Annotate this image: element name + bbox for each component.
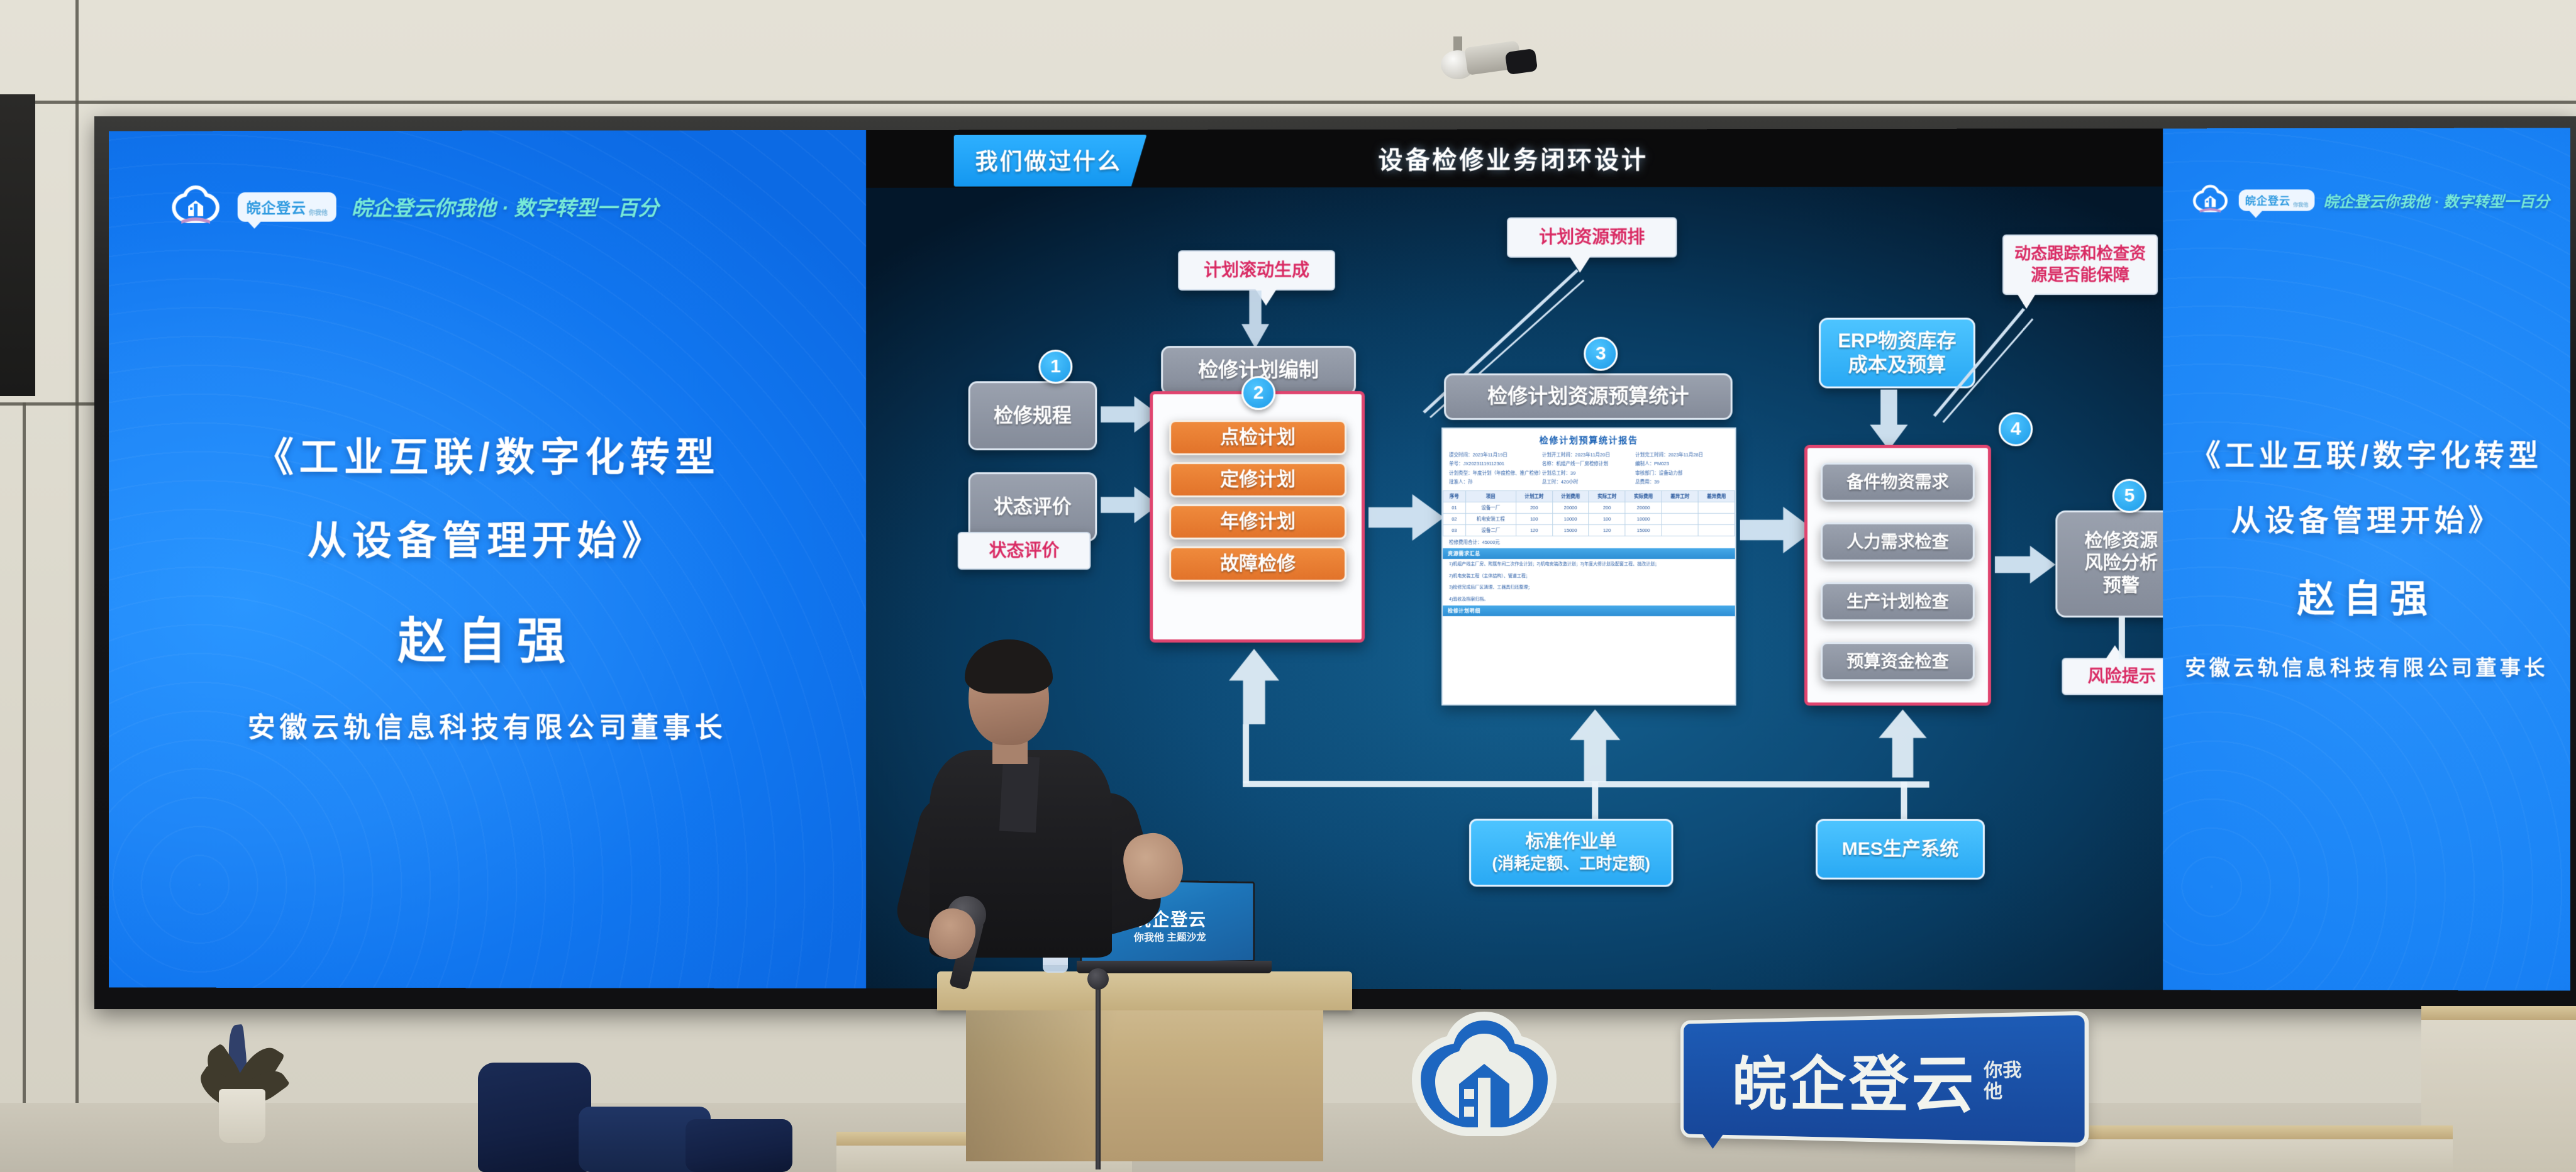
connector-bottom-bus bbox=[1243, 781, 1929, 788]
cell: 设备二厂 bbox=[1465, 524, 1516, 536]
cell: 15000 bbox=[1625, 524, 1662, 536]
right-brand-row: 皖企登云 你我他 皖企登云你我他 · 数字转型一百分 bbox=[2190, 184, 2550, 217]
cell: 设备一厂 bbox=[1465, 502, 1516, 513]
step-badge-3: 3 bbox=[1584, 337, 1618, 371]
cell bbox=[1662, 524, 1698, 536]
cell: 20000 bbox=[1552, 502, 1589, 513]
cell bbox=[1698, 513, 1735, 524]
report-note-2: 2)机电安装工程（主体结构）、管道工程； bbox=[1443, 571, 1735, 583]
budget-report-screenshot: 检修计划预算统计报告 提交时间：2023年11月19日 计划开工时间：2023年… bbox=[1441, 428, 1736, 706]
led-video-wall-screen: 皖企登云 你我他 皖企登云你我他 · 数字转型一百分 《工业互联/数字化转型 从… bbox=[109, 128, 2570, 991]
cell: 03 bbox=[1443, 524, 1466, 536]
col-4: 实际工时 bbox=[1589, 490, 1625, 502]
report-title: 检修计划预算统计报告 bbox=[1443, 429, 1735, 450]
step-badge-5: 5 bbox=[2112, 479, 2146, 513]
cell: 机电安装工程 bbox=[1465, 513, 1516, 524]
report-note-head: 检修费用合计：45000元 bbox=[1443, 536, 1735, 548]
step-badge-4: 4 bbox=[1999, 412, 2033, 446]
right-speaker-name: 赵自强 bbox=[2163, 568, 2570, 623]
left-title-panel: 皖企登云 你我他 皖企登云你我他 · 数字转型一百分 《工业互联/数字化转型 从… bbox=[109, 130, 866, 988]
report-meta-5: 编制人：PM023 bbox=[1635, 460, 1728, 468]
left-title-line-1: 《工业互联/数字化转型 bbox=[109, 425, 866, 482]
connector-bus-left bbox=[1243, 724, 1249, 783]
cell: 10000 bbox=[1552, 513, 1589, 524]
node-standard-work-order: 标准作业单 (消耗定额、工时定额) bbox=[1469, 819, 1673, 887]
report-meta-10: 总工时：420小时 bbox=[1542, 478, 1635, 487]
step-badge-2: 2 bbox=[1241, 376, 1275, 410]
wall-seam-vertical bbox=[75, 0, 79, 1172]
brand-tagline: 皖企登云你我他 · 数字转型一百分 bbox=[352, 191, 659, 221]
report-table: 序号 项目 计划工时 计划费用 实际工时 实际费用 差异工时 差异费用 01 设… bbox=[1443, 490, 1735, 536]
brand-pill: 皖企登云 你我他 bbox=[2239, 189, 2315, 211]
podium-sign-sub-2: 他 bbox=[1984, 1082, 2021, 1101]
cell: 15000 bbox=[1552, 524, 1589, 536]
report-note-1: 1)机组产线主厂房、附属车间二次作业计划；2)机电安装改造计划；3)年度大修计划… bbox=[1443, 559, 1735, 571]
report-band-2: 检修计划明细 bbox=[1443, 605, 1735, 616]
report-meta-1: 计划开工时间：2023年11月20日 bbox=[1542, 451, 1635, 460]
cell bbox=[1662, 502, 1698, 513]
node-risk-analysis: 检修资源 风险分析 预警 bbox=[2055, 511, 2163, 617]
node-risk-line-2: 风险分析 bbox=[2085, 553, 2158, 575]
col-3: 计划费用 bbox=[1552, 490, 1589, 502]
potted-plant-icon bbox=[208, 1019, 283, 1172]
node-fixed-repair-plan: 定修计划 bbox=[1169, 462, 1346, 497]
node-status-eval: 状态评价 bbox=[969, 472, 1097, 541]
microphone-stand-head bbox=[1087, 968, 1109, 990]
conference-chair-icon-2 bbox=[686, 1119, 792, 1172]
cell: 120 bbox=[1589, 524, 1625, 536]
speaker-person bbox=[943, 644, 1195, 971]
node-erp-inventory: ERP物资库存 成本及预算 bbox=[1819, 318, 1975, 388]
conference-chair-icon bbox=[478, 1063, 591, 1172]
cell: 200 bbox=[1516, 502, 1552, 513]
report-meta-0: 提交时间：2023年11月19日 bbox=[1449, 451, 1542, 460]
callout-risk-hint: 风险提示 bbox=[2062, 658, 2163, 695]
security-camera-icon bbox=[1431, 36, 1544, 87]
cell: 02 bbox=[1443, 513, 1466, 524]
left-brand-row: 皖企登云 你我他 皖企登云你我他 · 数字转型一百分 bbox=[169, 184, 658, 229]
node-spare-parts-demand: 备件物资需求 bbox=[1821, 463, 1975, 502]
table-header-row: 序号 项目 计划工时 计划费用 实际工时 实际费用 差异工时 差异费用 bbox=[1443, 490, 1735, 502]
col-7: 差异费用 bbox=[1698, 490, 1735, 502]
connector-risk-to-hint bbox=[2119, 617, 2125, 659]
cell: 200 bbox=[1589, 502, 1625, 513]
cell bbox=[1698, 502, 1735, 513]
cloud-house-logo-icon bbox=[169, 185, 222, 229]
callout-rolling-plan: 计划滚动生成 bbox=[1178, 250, 1335, 291]
cell: 120 bbox=[1516, 524, 1552, 536]
brand-pill-main: 皖企登云 bbox=[247, 196, 306, 217]
col-0: 序号 bbox=[1443, 490, 1466, 502]
node-spot-check-plan: 点检计划 bbox=[1169, 420, 1346, 455]
podium-sign-text: 皖企登云 bbox=[1732, 1034, 1977, 1125]
table-row: 01 设备一厂 200 20000 200 20000 bbox=[1443, 502, 1735, 513]
node-sop-line-1: 标准作业单 bbox=[1526, 832, 1617, 854]
foreground-table-center bbox=[2075, 1125, 2453, 1172]
report-meta-4: 名称：机组产线一厂房检修计划 bbox=[1542, 460, 1635, 468]
right-title-panel: 皖企登云 你我他 皖企登云你我他 · 数字转型一百分 《工业互联/数字化转型 从… bbox=[2163, 128, 2570, 991]
cell: 100 bbox=[1516, 513, 1552, 524]
callout-rolling-plan-text: 计划滚动生成 bbox=[1204, 260, 1309, 280]
node-manpower-check: 人力需求检查 bbox=[1821, 522, 1975, 561]
node-fault-repair: 故障检修 bbox=[1169, 546, 1346, 582]
right-title-line-2: 从设备管理开始》 bbox=[2163, 496, 2570, 539]
col-2: 计划工时 bbox=[1516, 490, 1552, 502]
podium-sign-sub-1: 你我 bbox=[1984, 1061, 2021, 1080]
report-meta-9: 批准人：孙 bbox=[1449, 478, 1542, 487]
screenshot-root: 皖企登云 你我他 皖企登云你我他 · 数字转型一百分 《工业互联/数字化转型 从… bbox=[0, 0, 2576, 1172]
callout-dynamic-line-1: 动态跟踪和检查资 bbox=[2010, 243, 2150, 265]
report-meta-2: 计划完工时间：2023年11月28日 bbox=[1635, 451, 1728, 460]
brand-tagline: 皖企登云你我他 · 数字转型一百分 bbox=[2323, 189, 2550, 211]
brand-pill-sub: 你我他 bbox=[2293, 202, 2308, 207]
left-title-line-2: 从设备管理开始》 bbox=[109, 509, 866, 566]
wall-seam-vertical-2 bbox=[23, 402, 26, 1172]
report-meta-6: 计划类型：年度计划（年度检修、推广检修） bbox=[1449, 468, 1542, 477]
connector-bus-mes bbox=[1901, 782, 1907, 819]
podium-top-surface bbox=[937, 971, 1352, 1010]
report-note-4: 4)验收及档案归档。 bbox=[1443, 594, 1735, 606]
col-1: 项目 bbox=[1465, 490, 1516, 502]
brand-pill-main: 皖企登云 bbox=[2245, 192, 2290, 207]
table-row: 02 机电安装工程 100 10000 100 10000 bbox=[1443, 513, 1735, 524]
node-erp-line-2: 成本及预算 bbox=[1848, 353, 1946, 377]
report-meta-3: 单号：JX20231119112301 bbox=[1449, 460, 1542, 468]
node-annual-repair-plan: 年修计划 bbox=[1169, 504, 1346, 539]
node-budget-fund-check: 预算资金检查 bbox=[1821, 642, 1975, 681]
podium-sign-plate: 皖企登云 你我 他 bbox=[1680, 1011, 2089, 1147]
speaker-hair bbox=[965, 639, 1053, 694]
node-inspection-rule: 检修规程 bbox=[969, 381, 1097, 450]
left-speaker-org: 安徽云轨信息科技有限公司董事长 bbox=[109, 705, 866, 745]
node-risk-line-1: 检修资源 bbox=[2085, 531, 2158, 553]
report-meta: 提交时间：2023年11月19日 计划开工时间：2023年11月20日 计划完工… bbox=[1443, 450, 1735, 490]
report-note-3: 3)检修完成后厂区清理、工器具归还整理； bbox=[1443, 582, 1735, 594]
slide-title: 设备检修业务闭环设计 bbox=[866, 140, 2163, 176]
node-risk-line-3: 预警 bbox=[2103, 575, 2140, 597]
callout-dynamic-line-2: 源是否能保障 bbox=[2010, 265, 2150, 286]
callout-status-eval-note: 状态评价 bbox=[958, 532, 1091, 570]
microphone-stand bbox=[1096, 981, 1101, 1169]
node-mes-system: MES生产系统 bbox=[1816, 819, 1985, 880]
right-title-line-1: 《工业互联/数字化转型 bbox=[2163, 431, 2570, 474]
report-band-1: 资源需求汇总 bbox=[1443, 548, 1735, 559]
left-speaker-name: 赵自强 bbox=[109, 602, 866, 673]
wall-seam-horizontal bbox=[0, 101, 2576, 104]
callout-resource-presched: 计划资源预排 bbox=[1507, 217, 1677, 258]
node-budget-stats: 检修计划资源预算统计 bbox=[1444, 373, 1733, 420]
node-production-plan-check: 生产计划检查 bbox=[1821, 582, 1975, 621]
podium bbox=[937, 971, 1352, 1172]
node-erp-line-1: ERP物资库存 bbox=[1838, 329, 1956, 353]
brand-pill-sub: 你我他 bbox=[309, 211, 328, 217]
cell bbox=[1662, 513, 1698, 524]
report-meta-8: 审核部门：设备动力部 bbox=[1635, 468, 1728, 477]
left-title-block: 《工业互联/数字化转型 从设备管理开始》 赵自强 安徽云轨信息科技有限公司董事长 bbox=[109, 425, 866, 745]
connector-bus-sop bbox=[1592, 781, 1598, 819]
speaker-shirt bbox=[999, 756, 1040, 833]
podium-brand-sign: 皖企登云 你我 他 bbox=[1409, 1000, 2094, 1172]
step-badge-1: 1 bbox=[1038, 350, 1072, 384]
node-sop-line-2: (消耗定额、工时定额) bbox=[1492, 854, 1650, 874]
cloud-house-logo-icon bbox=[1409, 1009, 1560, 1166]
cloud-house-logo-icon bbox=[2190, 184, 2229, 216]
callout-dynamic-tracking: 动态跟踪和检查资 源是否能保障 bbox=[2002, 235, 2158, 295]
table-row: 03 设备二厂 120 15000 120 15000 bbox=[1443, 524, 1735, 536]
col-6: 差异工时 bbox=[1662, 490, 1698, 502]
cell: 10000 bbox=[1625, 513, 1662, 524]
right-speaker-org: 安徽云轨信息科技有限公司董事长 bbox=[2163, 651, 2570, 681]
cell bbox=[1698, 524, 1735, 536]
report-meta-7: 计划总工时：39 bbox=[1542, 468, 1635, 477]
cell: 01 bbox=[1443, 502, 1466, 513]
wall-dark-recess bbox=[0, 94, 35, 396]
podium-shading bbox=[966, 1010, 1323, 1161]
col-5: 实际费用 bbox=[1625, 490, 1662, 502]
report-meta-11: 总费用：39 bbox=[1635, 478, 1728, 487]
right-title-block: 《工业互联/数字化转型 从设备管理开始》 赵自强 安徽云轨信息科技有限公司董事长 bbox=[2163, 431, 2570, 681]
cell: 20000 bbox=[1625, 502, 1662, 513]
wall-seam-horizontal-2 bbox=[0, 402, 94, 406]
brand-pill: 皖企登云 你我他 bbox=[238, 192, 336, 221]
cell: 100 bbox=[1589, 513, 1625, 524]
